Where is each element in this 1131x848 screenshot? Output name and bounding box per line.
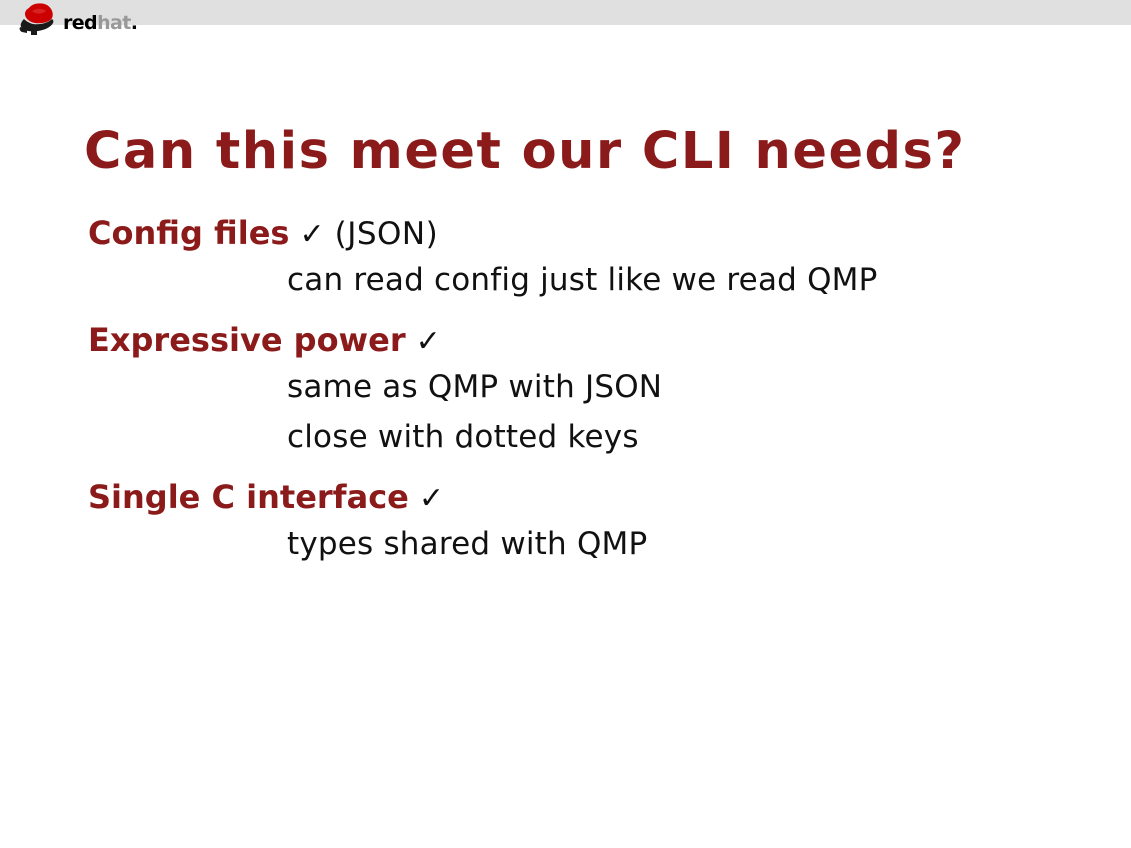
- checkmark-icon: ✓: [289, 217, 324, 252]
- wordmark-hat: hat: [97, 12, 131, 34]
- branding-bar: [0, 0, 1131, 25]
- description-detail: types shared with QMP: [0, 519, 1131, 569]
- wordmark-red: red: [63, 12, 97, 34]
- description-detail: can read config just like we read QMP: [0, 255, 1131, 305]
- term-note: (JSON): [325, 216, 439, 252]
- slide-body: Config files✓(JSON) can read config just…: [0, 212, 1131, 583]
- page-title: Can this meet our CLI needs?: [84, 122, 965, 181]
- description-term: Config files✓(JSON): [0, 212, 1131, 255]
- description-group-expressive-power: Expressive power✓ same as QMP with JSON …: [0, 319, 1131, 462]
- checkmark-icon: ✓: [409, 481, 444, 516]
- term-label: Single C interface: [88, 478, 409, 516]
- wordmark-trademark: .: [131, 12, 138, 34]
- term-label: Expressive power: [88, 321, 406, 359]
- description-term: Single C interface✓: [0, 476, 1131, 519]
- description-term: Expressive power✓: [0, 319, 1131, 362]
- description-detail: same as QMP with JSON: [0, 362, 1131, 412]
- term-label: Config files: [88, 214, 289, 252]
- description-group-single-c-interface: Single C interface✓ types shared with QM…: [0, 476, 1131, 569]
- presentation-slide: redhat. Can this meet our CLI needs? Con…: [0, 0, 1131, 848]
- redhat-wordmark: redhat.: [63, 14, 137, 33]
- description-group-config-files: Config files✓(JSON) can read config just…: [0, 212, 1131, 305]
- redhat-logo: redhat.: [18, 1, 137, 37]
- description-detail: close with dotted keys: [0, 412, 1131, 462]
- checkmark-icon: ✓: [406, 324, 441, 359]
- redhat-shadowman-icon: [18, 2, 60, 36]
